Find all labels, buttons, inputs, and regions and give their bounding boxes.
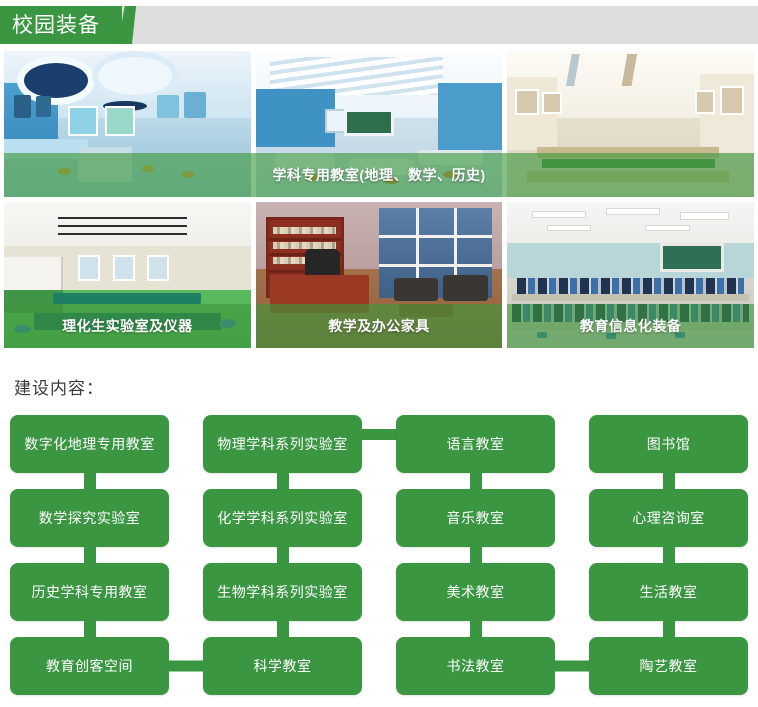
node-science-classroom[interactable]: 科学教室 bbox=[203, 637, 362, 695]
connector-vertical bbox=[470, 473, 482, 489]
photo-caption-text: 教学及办公家具 bbox=[328, 316, 430, 336]
desk-row bbox=[537, 147, 720, 157]
right-wall-shape bbox=[438, 83, 502, 150]
node-cell: 书法教室 bbox=[396, 637, 555, 695]
photo-caption-bar: 理化生实验室及仪器 bbox=[4, 304, 251, 348]
computer-row bbox=[517, 278, 744, 294]
connector-vertical bbox=[84, 547, 96, 563]
connector-vertical bbox=[277, 547, 289, 563]
photo-caption-text: 理化生实验室及仪器 bbox=[62, 316, 193, 336]
page-header: 校园装备 bbox=[0, 6, 758, 44]
ceiling-light bbox=[680, 212, 729, 219]
counter-cabinet bbox=[4, 139, 88, 159]
bookshelf-divider bbox=[269, 238, 342, 241]
build-section-title: 建设内容： bbox=[14, 374, 758, 399]
it-equipment-photo[interactable]: 教育信息化装备 bbox=[507, 202, 754, 348]
desk-row bbox=[512, 294, 749, 301]
node-cell: 陶艺教室 bbox=[589, 637, 748, 695]
office-furniture-photo[interactable]: 教学及办公家具 bbox=[256, 202, 503, 348]
photo-row-top: 学科专用教室(地理、数学、历史) bbox=[0, 51, 758, 197]
window bbox=[113, 255, 135, 281]
window-mullion bbox=[379, 235, 492, 238]
desk-row bbox=[527, 171, 729, 183]
photo-scene bbox=[256, 51, 503, 197]
science-lab-photo[interactable]: 理化生实验室及仪器 bbox=[4, 202, 251, 348]
node-art-classroom[interactable]: 美术教室 bbox=[396, 563, 555, 621]
node-cell: 美术教室 bbox=[396, 563, 555, 621]
connector-horizontal bbox=[362, 429, 396, 440]
ceiling-light bbox=[532, 211, 586, 218]
green-board bbox=[344, 109, 393, 135]
stool bbox=[384, 177, 399, 184]
photo-caption-bar: 教学及办公家具 bbox=[256, 304, 503, 348]
student-table bbox=[275, 153, 334, 168]
header-green-tab: 校园装备 bbox=[0, 6, 122, 44]
node-cell: 历史学科专用教室 bbox=[10, 563, 169, 621]
node-cell: 数字化地理专用教室 bbox=[10, 415, 169, 473]
back-wall-shape bbox=[256, 89, 335, 147]
connector-vertical bbox=[663, 621, 675, 637]
photo-gallery: 学科专用教室(地理、数学、历史) 理化生实验室及仪器 bbox=[0, 51, 758, 348]
connector-horizontal bbox=[169, 661, 203, 672]
stool bbox=[443, 171, 458, 178]
student-table bbox=[349, 159, 413, 175]
lab-bench bbox=[53, 293, 201, 305]
ceiling-ribbon-decor bbox=[552, 54, 710, 86]
framed-picture bbox=[157, 95, 179, 118]
node-biology-lab-series[interactable]: 生物学科系列实验室 bbox=[203, 563, 362, 621]
stool bbox=[182, 171, 194, 178]
sofa bbox=[394, 278, 438, 301]
window bbox=[147, 255, 169, 281]
window-mullion bbox=[379, 264, 492, 267]
connector-vertical bbox=[663, 547, 675, 563]
node-cell: 图书馆 bbox=[589, 415, 748, 473]
geography-classroom-photo[interactable] bbox=[4, 51, 251, 197]
chair-row bbox=[542, 159, 715, 168]
node-ceramics-classroom[interactable]: 陶艺教室 bbox=[589, 637, 748, 695]
photo-caption-bar: 教育信息化装备 bbox=[507, 304, 754, 348]
framed-picture bbox=[36, 96, 51, 116]
photo-scene bbox=[4, 51, 251, 197]
student-table bbox=[418, 150, 482, 165]
books-row bbox=[273, 227, 336, 234]
node-psychological-counseling-room[interactable]: 心理咨询室 bbox=[589, 489, 748, 547]
connector-vertical bbox=[84, 621, 96, 637]
center-desk bbox=[78, 147, 132, 182]
window bbox=[78, 255, 100, 281]
math-classroom-photo[interactable] bbox=[256, 51, 503, 197]
connector-vertical bbox=[470, 547, 482, 563]
node-cell: 化学学科系列实验室 bbox=[203, 489, 362, 547]
node-cell: 数学探究实验室 bbox=[10, 489, 169, 547]
node-grid: 数字化地理专用教室 物理学科系列实验室 语言教室 图书馆 数学探究实验室 化学学… bbox=[10, 415, 748, 695]
node-math-inquiry-lab[interactable]: 数学探究实验室 bbox=[10, 489, 169, 547]
ceiling-light bbox=[606, 208, 660, 215]
node-physics-lab-series[interactable]: 物理学科系列实验室 bbox=[203, 415, 362, 473]
node-cell: 语言教室 bbox=[396, 415, 555, 473]
photo-row-bottom: 理化生实验室及仪器 bbox=[0, 202, 758, 348]
connector-vertical bbox=[470, 621, 482, 637]
ceiling-line-decor bbox=[58, 217, 186, 240]
node-cell: 物理学科系列实验室 bbox=[203, 415, 362, 473]
node-cell: 生活教室 bbox=[589, 563, 748, 621]
node-cell: 教育创客空间 bbox=[10, 637, 169, 695]
sofa bbox=[443, 275, 487, 301]
ceiling-light bbox=[547, 225, 591, 231]
wall-map-b bbox=[105, 106, 135, 135]
green-board bbox=[660, 243, 724, 272]
framed-picture bbox=[515, 89, 540, 115]
stool bbox=[58, 168, 70, 175]
framed-picture bbox=[720, 86, 745, 115]
node-music-classroom[interactable]: 音乐教室 bbox=[396, 489, 555, 547]
history-classroom-photo[interactable] bbox=[507, 51, 754, 197]
node-library[interactable]: 图书馆 bbox=[589, 415, 748, 473]
wall-map-a bbox=[68, 106, 98, 135]
node-life-skills-classroom[interactable]: 生活教室 bbox=[589, 563, 748, 621]
stool bbox=[305, 174, 320, 181]
connector-horizontal bbox=[555, 661, 589, 672]
node-cell: 心理咨询室 bbox=[589, 489, 748, 547]
framed-picture bbox=[695, 90, 715, 113]
build-content-diagram: 数字化地理专用教室 物理学科系列实验室 语言教室 图书馆 数学探究实验室 化学学… bbox=[0, 415, 758, 695]
framed-picture bbox=[542, 92, 562, 114]
page-title: 校园装备 bbox=[12, 15, 100, 36]
node-language-classroom[interactable]: 语言教室 bbox=[396, 415, 555, 473]
photo-caption-text: 教育信息化装备 bbox=[580, 316, 682, 336]
node-cell: 音乐教室 bbox=[396, 489, 555, 547]
node-chemistry-lab-series[interactable]: 化学学科系列实验室 bbox=[203, 489, 362, 547]
ceiling-oval-light-icon bbox=[98, 57, 172, 95]
connector-vertical bbox=[277, 621, 289, 637]
node-cell: 生物学科系列实验室 bbox=[203, 563, 362, 621]
node-maker-space[interactable]: 教育创客空间 bbox=[10, 637, 169, 695]
connector-vertical bbox=[663, 473, 675, 489]
node-cell: 科学教室 bbox=[203, 637, 362, 695]
photo-scene bbox=[507, 51, 754, 197]
node-history-classroom[interactable]: 历史学科专用教室 bbox=[10, 563, 169, 621]
node-calligraphy-classroom[interactable]: 书法教室 bbox=[396, 637, 555, 695]
connector-vertical bbox=[277, 473, 289, 489]
framed-picture bbox=[184, 92, 206, 118]
node-digital-geography-classroom[interactable]: 数字化地理专用教室 bbox=[10, 415, 169, 473]
connector-vertical bbox=[84, 473, 96, 489]
ceiling-oval-dark-icon bbox=[24, 63, 88, 98]
framed-picture bbox=[14, 95, 31, 118]
ceiling-light bbox=[645, 225, 689, 231]
